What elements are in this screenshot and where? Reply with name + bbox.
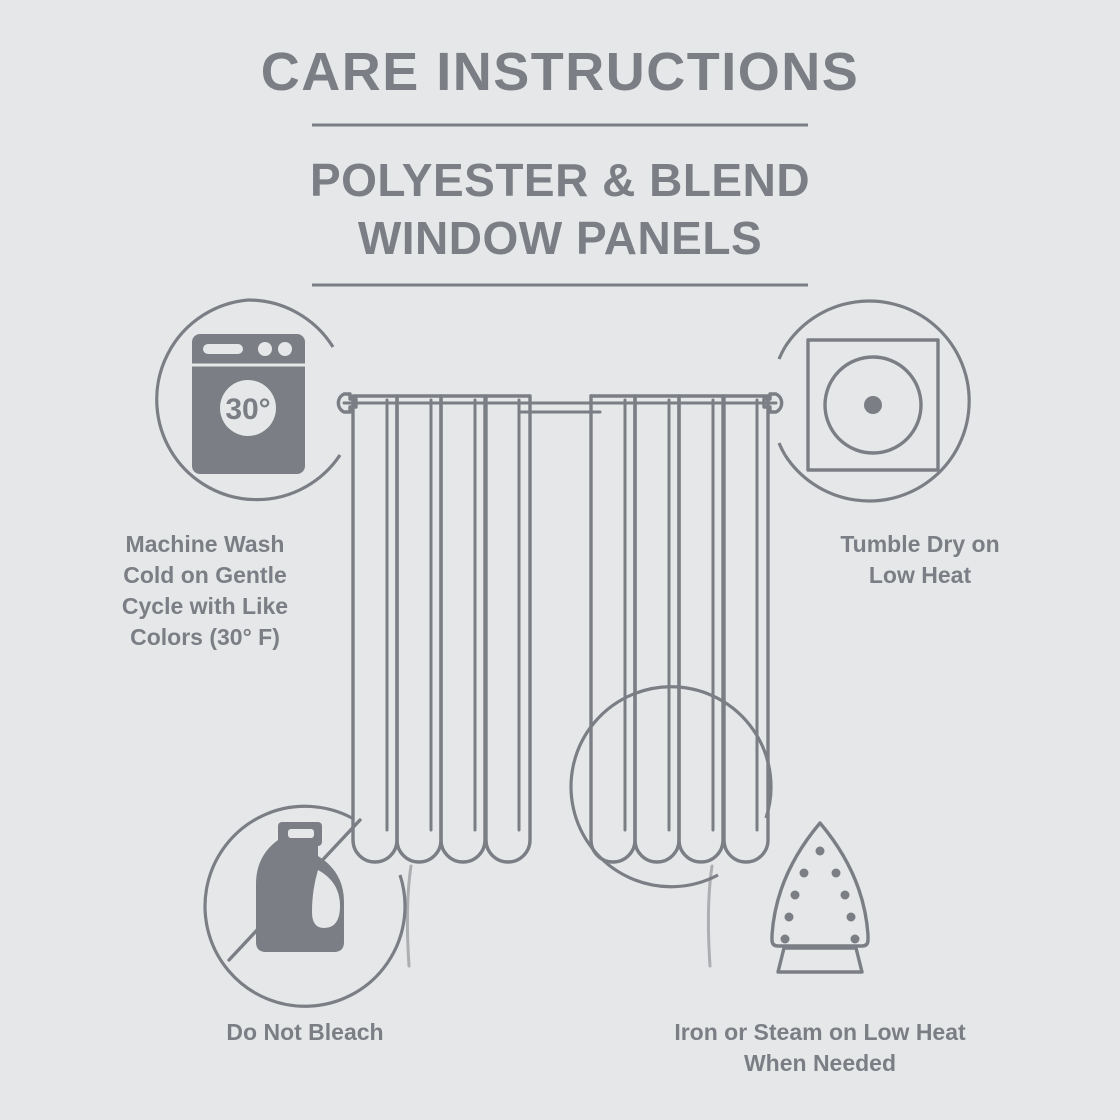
subtitle-line-2: WINDOW PANELS: [358, 212, 762, 264]
symbol-tumble-dry: Tumble Dry on Low Heat: [779, 301, 1000, 588]
machine-wash-caption-line-3: Cycle with Like: [122, 593, 288, 619]
iron-caption-line-1: Iron or Steam on Low Heat: [674, 1019, 966, 1045]
no-bleach-icon: [229, 820, 360, 960]
curtain-panel-left: [353, 396, 530, 966]
page-title: CARE INSTRUCTIONS: [261, 42, 860, 102]
symbol-machine-wash: 30° Machine Wash Cold on Gentle Cycle wi…: [122, 300, 340, 650]
do-not-bleach-caption: Do Not Bleach: [226, 1019, 383, 1045]
wash-temperature-label: 30°: [225, 393, 270, 426]
iron-low-heat-icon: [772, 823, 868, 972]
washing-machine-icon: 30°: [192, 334, 305, 474]
curtain-illustration: [338, 394, 781, 966]
care-instructions-infographic: CARE INSTRUCTIONS POLYESTER & BLEND WIND…: [0, 0, 1120, 1120]
subtitle-line-1: POLYESTER & BLEND: [310, 154, 810, 206]
machine-wash-caption-line-4: Colors (30° F): [130, 624, 280, 650]
symbol-do-not-bleach: Do Not Bleach: [205, 806, 405, 1045]
machine-wash-caption-line-1: Machine Wash: [126, 531, 285, 557]
tumble-dry-caption-line-1: Tumble Dry on: [840, 531, 999, 557]
low-heat-dot-icon: [864, 396, 882, 414]
infographic-canvas: CARE INSTRUCTIONS POLYESTER & BLEND WIND…: [0, 0, 1120, 1120]
curtain-panel-right: [591, 396, 768, 966]
iron-caption-line-2: When Needed: [744, 1050, 896, 1076]
tumble-dry-caption-line-2: Low Heat: [869, 562, 972, 588]
tumble-dry-low-icon: [808, 340, 938, 470]
machine-wash-caption-line-2: Cold on Gentle: [123, 562, 287, 588]
